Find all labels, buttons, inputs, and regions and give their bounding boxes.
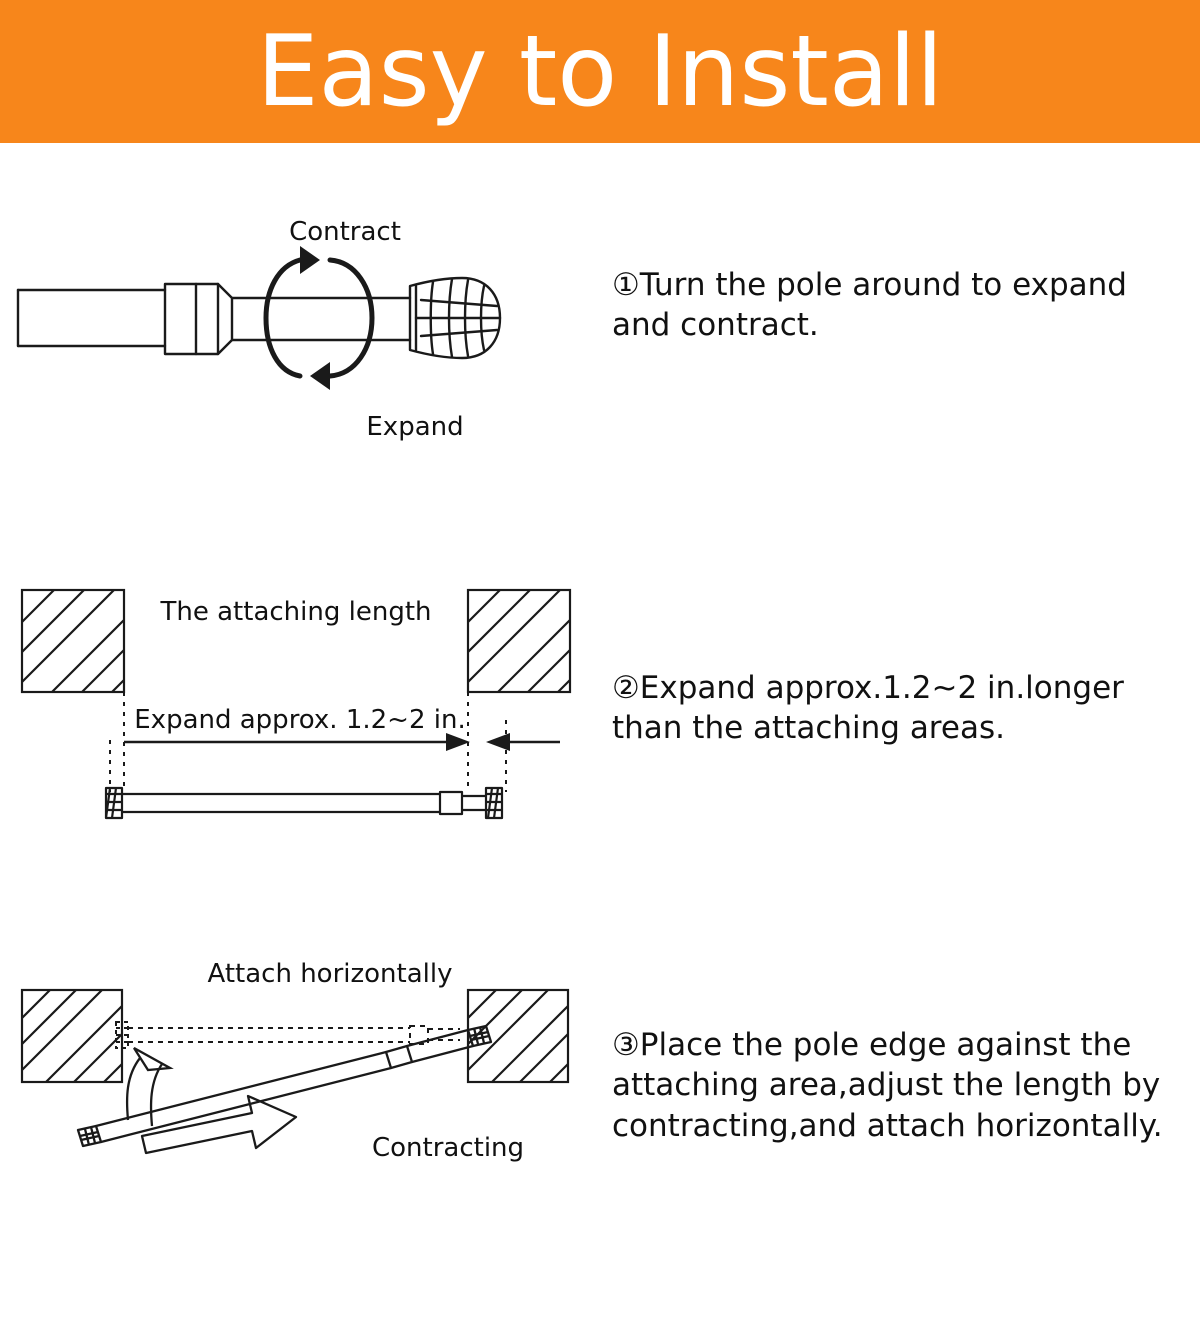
label-attaching-length: The attaching length bbox=[160, 597, 432, 627]
label-expand: Expand bbox=[366, 412, 463, 442]
pole-rotation-diagram: Contract Expand bbox=[0, 190, 580, 460]
label-contract: Contract bbox=[289, 217, 401, 247]
header-banner: Easy to Install bbox=[0, 0, 1200, 143]
label-attach-horizontally: Attach horizontally bbox=[208, 959, 453, 989]
attach-horizontally-diagram: Attach horizontally Contracting bbox=[0, 940, 590, 1200]
arrow-head-contract bbox=[300, 246, 320, 274]
label-contracting: Contracting bbox=[372, 1133, 524, 1163]
step-1-text: ①Turn the pole around to expand and cont… bbox=[612, 265, 1172, 346]
step-3-text: ③Place the pole edge against the attachi… bbox=[612, 1025, 1172, 1146]
step-2-text: ②Expand approx.1.2~2 in.longer than the … bbox=[612, 668, 1192, 749]
label-expand-approx: Expand approx. 1.2~2 in. bbox=[134, 705, 466, 735]
page-title: Easy to Install bbox=[257, 23, 944, 121]
arrow-head-expand bbox=[310, 362, 330, 390]
expand-length-diagram: The attaching length Expand approx. 1.2~… bbox=[0, 570, 590, 860]
